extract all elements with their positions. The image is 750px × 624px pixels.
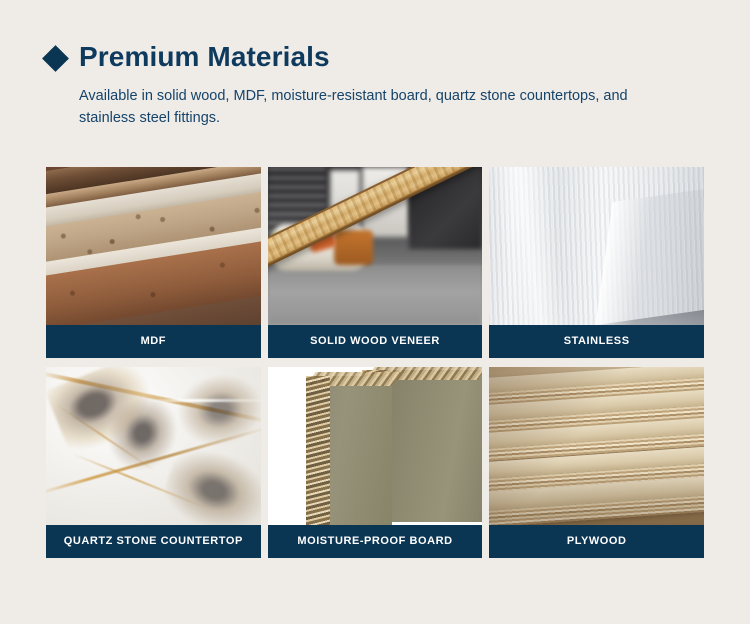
section-subtitle: Available in solid wood, MDF, moisture-r… <box>79 85 649 130</box>
material-card-label: MOISTURE-PROOF BOARD <box>268 525 483 558</box>
moisture-proof-board-image <box>268 367 483 525</box>
material-card-solid-wood-veneer[interactable]: SOLID WOOD VENEER <box>268 167 483 358</box>
mdf-artwork <box>46 167 261 325</box>
mdf-image <box>46 167 261 325</box>
material-card-stainless[interactable]: STAINLESS <box>489 167 704 358</box>
plywood-artwork <box>489 367 704 525</box>
quartz-stone-image <box>46 367 261 525</box>
veneer-artwork <box>268 167 483 325</box>
section-header: Premium Materials Available in solid woo… <box>46 42 706 130</box>
material-card-label: MDF <box>46 325 261 358</box>
material-card-label: PLYWOOD <box>489 525 704 558</box>
diamond-icon <box>42 45 69 72</box>
material-card-moisture-proof-board[interactable]: MOISTURE-PROOF BOARD <box>268 367 483 558</box>
title-row: Premium Materials <box>46 42 706 73</box>
material-card-label: QUARTZ STONE COUNTERTOP <box>46 525 261 558</box>
material-card-mdf[interactable]: MDF <box>46 167 261 358</box>
material-card-plywood[interactable]: PLYWOOD <box>489 367 704 558</box>
stainless-image <box>489 167 704 325</box>
material-card-quartz-stone-countertop[interactable]: QUARTZ STONE COUNTERTOP <box>46 367 261 558</box>
plywood-image <box>489 367 704 525</box>
material-card-label: SOLID WOOD VENEER <box>268 325 483 358</box>
material-card-label: STAINLESS <box>489 325 704 358</box>
materials-section: Premium Materials Available in solid woo… <box>0 0 750 624</box>
moisture-board-artwork <box>268 367 483 525</box>
materials-grid: MDF SOLID WOOD VENEER <box>46 167 704 558</box>
stainless-artwork <box>489 167 704 325</box>
page-title: Premium Materials <box>79 42 330 73</box>
solid-wood-veneer-image <box>268 167 483 325</box>
quartz-artwork <box>46 367 261 525</box>
